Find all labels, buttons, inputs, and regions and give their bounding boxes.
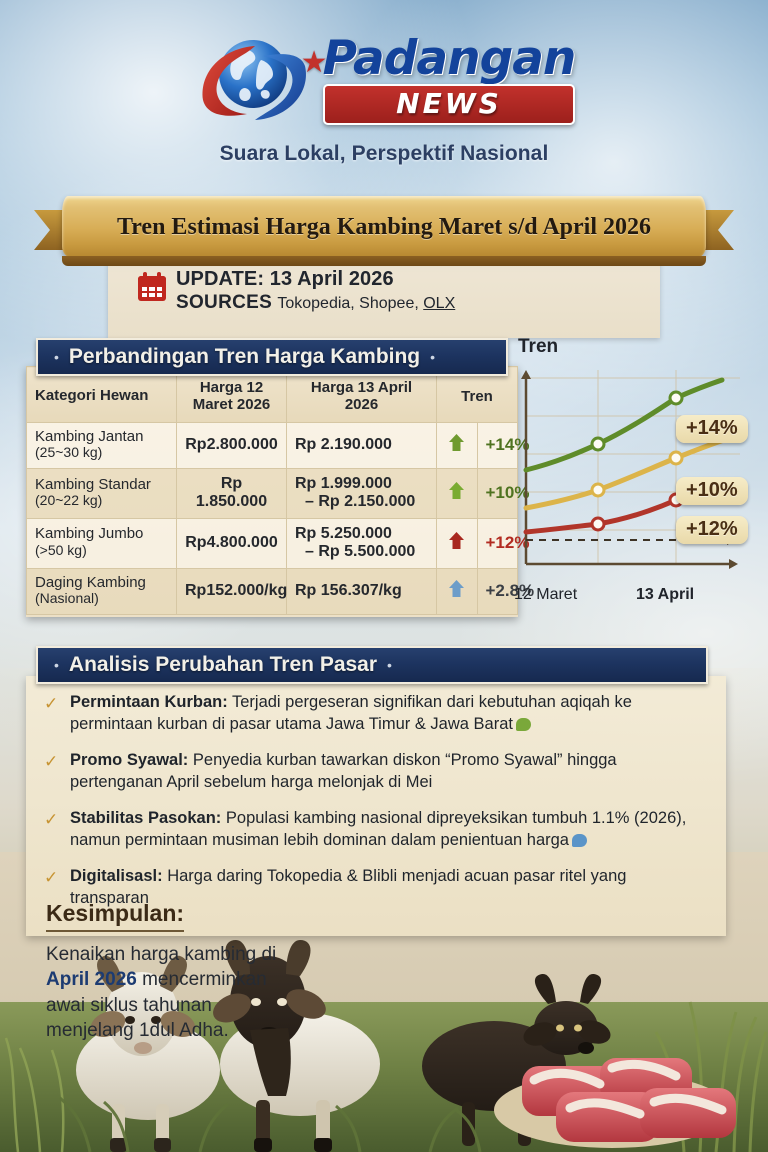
conclusion-line-4: menjelang 1dul Adha. bbox=[46, 1020, 229, 1041]
list-item: ✓ Promo Syawal: Penyedia kurban tawarkan… bbox=[44, 750, 706, 794]
cell-old-price: Rp 1.850.000 bbox=[177, 469, 287, 519]
table-body: Kambing Jantan (25~30 kg) Rp2.800.000 Rp… bbox=[27, 422, 518, 615]
check-icon: ✓ bbox=[44, 695, 61, 736]
table-row: Kambing Jumbo (>50 kg) Rp4.800.000 Rp 5.… bbox=[27, 518, 518, 568]
cell-trend-arrow bbox=[437, 422, 478, 469]
cell-category: Daging Kambing (Nasional) bbox=[27, 568, 177, 615]
conclusion-line-1: Kenaikan harga kambing di bbox=[46, 944, 276, 965]
sources-link-olx[interactable]: OLX bbox=[423, 295, 455, 312]
brand-news-label: NEWS bbox=[396, 87, 502, 120]
table-row: Kambing Standar (20~22 kg) Rp 1.850.000 … bbox=[27, 469, 518, 519]
title-ribbon: Tren Estimasi Harga Kambing Maret s/d Ap… bbox=[34, 196, 734, 268]
price-comparison-table: Kategori Hewan Harga 12Maret 2026 Harga … bbox=[26, 366, 518, 615]
analysis-section-title: Analisis Perubahan Tren Pasar bbox=[69, 653, 377, 677]
chart-xtick-end: 13 April bbox=[636, 586, 694, 604]
analysis-text: Permintaan Kurban: Terjadi pergeseran si… bbox=[70, 692, 706, 736]
conclusion-title: Kesimpulan: bbox=[46, 900, 184, 932]
chart-point bbox=[592, 518, 604, 530]
page-title: Tren Estimasi Harga Kambing Maret s/d Ap… bbox=[117, 214, 651, 241]
table-section-header: • Perbandingan Tren Harga Kambing • bbox=[36, 338, 508, 376]
table-row: Kambing Jantan (25~30 kg) Rp2.800.000 Rp… bbox=[27, 422, 518, 469]
brand-tagline: Suara Lokal, Perspektif Nasional bbox=[220, 142, 549, 166]
conclusion-line-2: mencerminkan bbox=[137, 969, 267, 990]
chart-point bbox=[670, 452, 682, 464]
speech-bubble-blue-icon bbox=[572, 834, 587, 847]
brand-wordmark: Padangan NEWS bbox=[323, 37, 576, 125]
arrow-up-icon bbox=[448, 579, 465, 598]
cell-trend-arrow bbox=[437, 469, 478, 519]
analysis-item-title: Promo Syawal: bbox=[70, 751, 188, 769]
cell-new-price: Rp 156.307/kg bbox=[287, 568, 437, 615]
chart-xtick-start: 12 Maret bbox=[514, 586, 577, 604]
check-icon: ✓ bbox=[44, 753, 61, 794]
analysis-item-title: Stabilitas Pasokan: bbox=[70, 809, 221, 827]
analysis-card: ✓ Permintaan Kurban: Terjadi pergeseran … bbox=[26, 676, 726, 936]
star-icon: ★ bbox=[301, 48, 328, 78]
analysis-text: Promo Syawal: Penyedia kurban tawarkan d… bbox=[70, 750, 706, 794]
arrow-up-icon bbox=[448, 531, 465, 550]
analysis-item-title: Digitalisasl: bbox=[70, 867, 163, 885]
update-label: UPDATE: 13 April 2026 bbox=[176, 268, 455, 291]
cell-new-price: Rp 5.250.000 – Rp 5.500.000 bbox=[287, 518, 437, 568]
cell-category: Kambing Standar (20~22 kg) bbox=[27, 469, 177, 519]
chart-title: Tren bbox=[518, 336, 558, 358]
logo[interactable]: ★ Padangan NEWS bbox=[193, 26, 576, 136]
brand-news-badge: NEWS bbox=[323, 84, 576, 125]
chart-badge-green: +14% bbox=[676, 415, 748, 443]
check-icon: ✓ bbox=[44, 811, 61, 852]
arrow-up-icon bbox=[448, 433, 465, 452]
cell-new-price: Rp 2.190.000 bbox=[287, 422, 437, 469]
chart-plot bbox=[508, 336, 762, 604]
price-table-card: Kategori Hewan Harga 12Maret 2026 Harga … bbox=[26, 366, 518, 617]
bullet-dot-right: • bbox=[387, 658, 392, 672]
table-row: Daging Kambing (Nasional) Rp152.000/kg R… bbox=[27, 568, 518, 615]
brand-name: Padangan bbox=[323, 37, 576, 82]
update-sources-block: UPDATE: 13 April 2026 SOURCES Tokopedia,… bbox=[138, 268, 455, 314]
ribbon-body: Tren Estimasi Harga Kambing Maret s/d Ap… bbox=[62, 196, 706, 258]
conclusion-block: Kesimpulan: Kenaikan harga kambing di Ap… bbox=[46, 900, 336, 1044]
analysis-text: Stabilitas Pasokan: Populasi kambing nas… bbox=[70, 808, 706, 852]
cell-trend-arrow bbox=[437, 568, 478, 615]
cell-old-price: Rp152.000/kg bbox=[177, 568, 287, 615]
cell-old-price: Rp2.800.000 bbox=[177, 422, 287, 469]
arrow-up-icon bbox=[448, 481, 465, 500]
chart-badge-red: +12% bbox=[676, 516, 748, 544]
bullet-dot-right: • bbox=[430, 350, 435, 364]
cell-category: Kambing Jumbo (>50 kg) bbox=[27, 518, 177, 568]
list-item: ✓ Permintaan Kurban: Terjadi pergeseran … bbox=[44, 692, 706, 736]
chart-point bbox=[670, 392, 682, 404]
chart-point bbox=[592, 484, 604, 496]
sources-label: SOURCES bbox=[176, 292, 272, 313]
conclusion-body: Kenaikan harga kambing di April 2026 men… bbox=[46, 942, 336, 1044]
calendar-icon bbox=[138, 272, 166, 301]
cell-trend-arrow bbox=[437, 518, 478, 568]
site-header: ★ Padangan NEWS Suara Lokal, Perspektif … bbox=[0, 0, 768, 196]
speech-bubble-green-icon bbox=[516, 718, 531, 731]
list-item: ✓ Stabilitas Pasokan: Populasi kambing n… bbox=[44, 808, 706, 852]
bullet-dot-left: • bbox=[54, 658, 59, 672]
sources-value: Tokopedia, Shopee, bbox=[277, 295, 423, 312]
conclusion-highlight: April 2026 bbox=[46, 969, 137, 990]
chart-point bbox=[592, 438, 604, 450]
analysis-item-title: Permintaan Kurban: bbox=[70, 693, 228, 711]
analysis-section-header: • Analisis Perubahan Tren Pasar • bbox=[36, 646, 708, 684]
bullet-dot-left: • bbox=[54, 350, 59, 364]
trend-chart: Tren bbox=[508, 336, 762, 604]
cell-old-price: Rp4.800.000 bbox=[177, 518, 287, 568]
conclusion-line-3: awai siklus tahunan bbox=[46, 995, 212, 1016]
cell-category: Kambing Jantan (25~30 kg) bbox=[27, 422, 177, 469]
table-section-title: Perbandingan Tren Harga Kambing bbox=[69, 345, 420, 369]
cell-new-price: Rp 1.999.000 – Rp 2.150.000 bbox=[287, 469, 437, 519]
globe-icon: ★ bbox=[193, 26, 317, 136]
chart-badge-gold: +10% bbox=[676, 477, 748, 505]
